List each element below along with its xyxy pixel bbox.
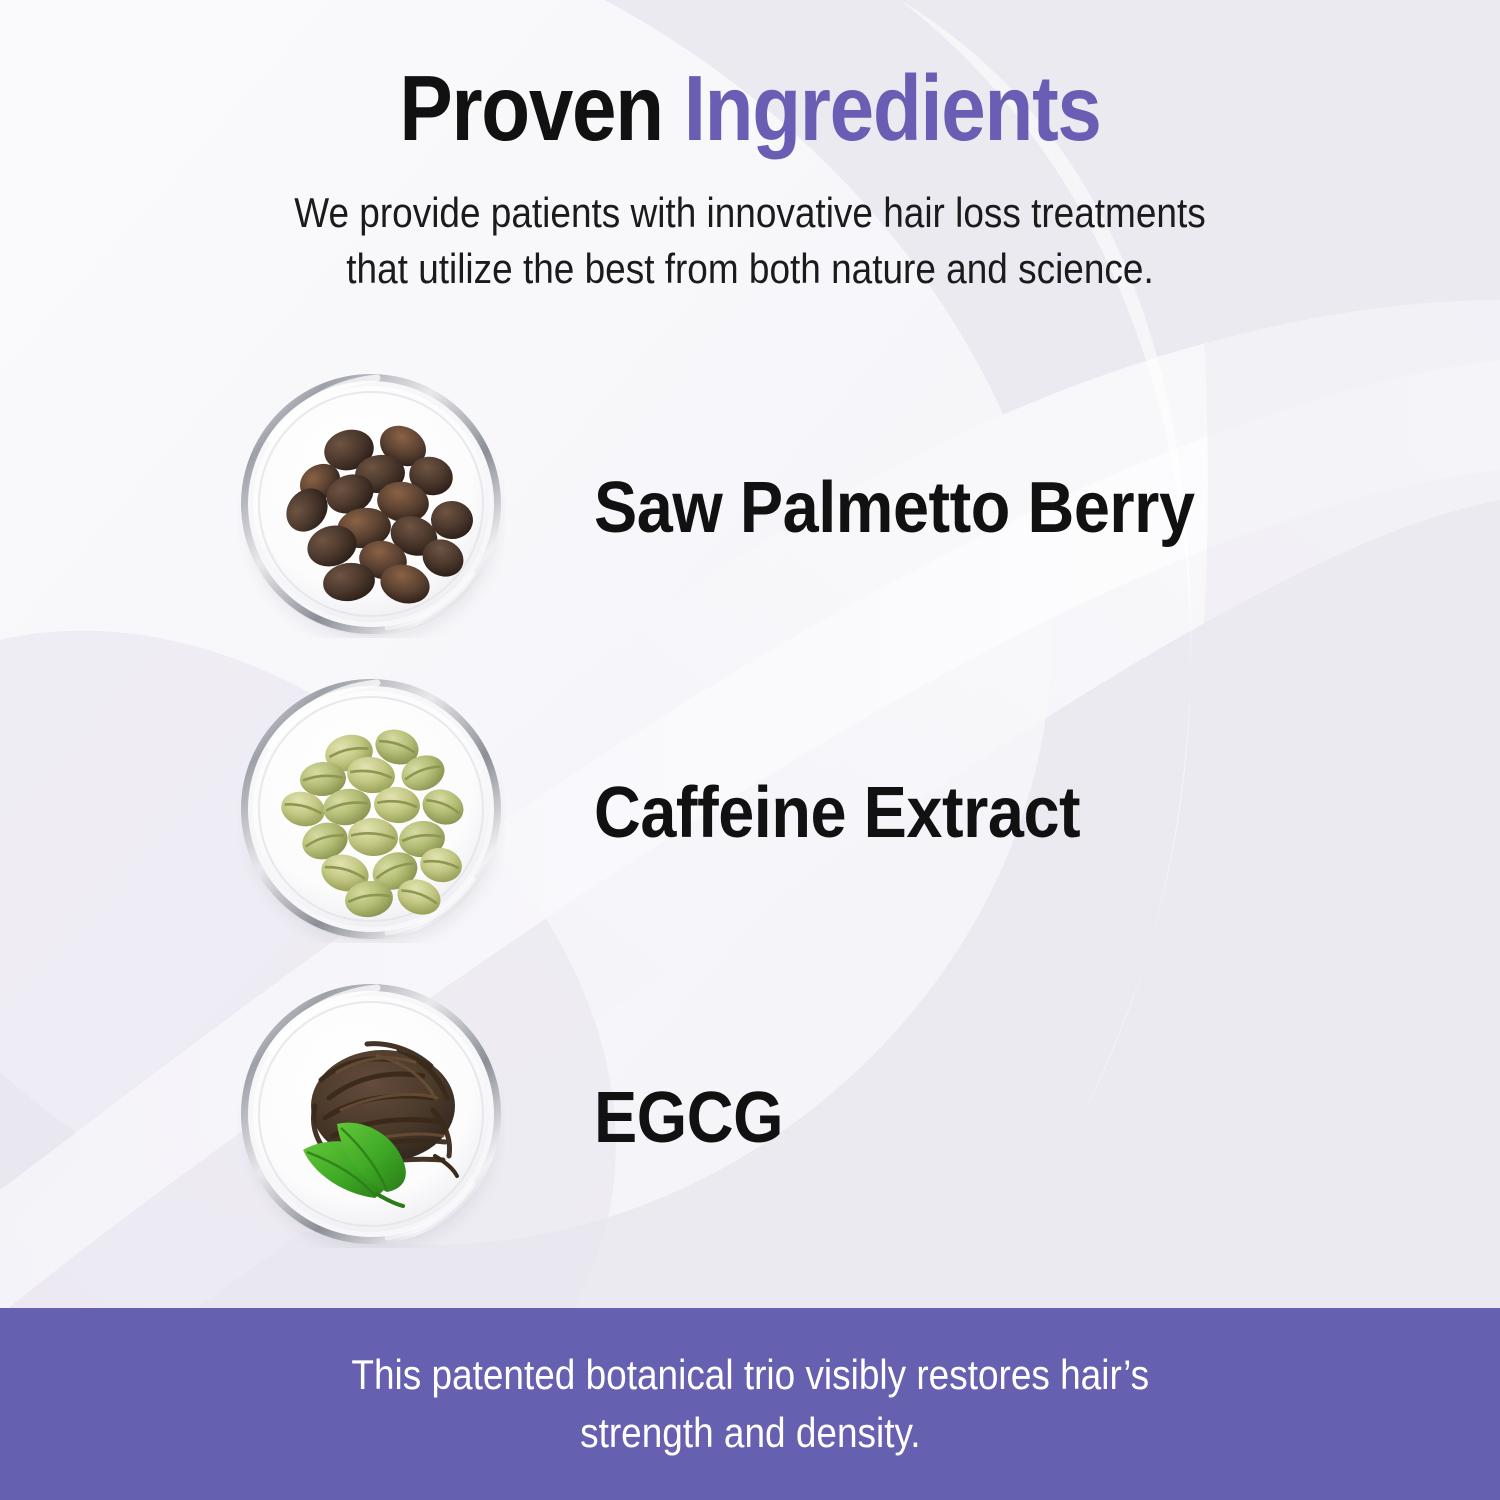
petri-dish-icon <box>237 370 505 638</box>
page-title-accent: Ingredients <box>684 56 1101 160</box>
list-item: EGCG <box>0 965 1500 1270</box>
petri-dish-icon <box>237 980 505 1248</box>
ingredient-label: Saw Palmetto Berry <box>594 467 1195 549</box>
ingredient-label: Caffeine Extract <box>594 772 1080 854</box>
ingredient-image-caffeine <box>222 663 522 963</box>
header: Proven Ingredients We provide patients w… <box>0 0 1500 297</box>
page-title-primary: Proven <box>399 56 683 160</box>
bottom-banner: This patented botanical trio visibly res… <box>0 1308 1500 1500</box>
ingredient-image-egcg <box>222 968 522 1268</box>
ingredient-list: Saw Palmetto Berry <box>0 355 1500 1270</box>
ingredient-label: EGCG <box>594 1077 783 1159</box>
list-item: Caffeine Extract <box>0 660 1500 965</box>
list-item: Saw Palmetto Berry <box>0 355 1500 660</box>
ingredient-image-saw-palmetto <box>222 358 522 658</box>
petri-dish-icon <box>237 675 505 943</box>
page-title: Proven Ingredients <box>105 0 1395 155</box>
ingredients-infographic: Proven Ingredients We provide patients w… <box>0 0 1500 1500</box>
page-subtitle: We provide patients with innovative hair… <box>90 155 1410 297</box>
bottom-banner-text: This patented botanical trio visibly res… <box>351 1346 1149 1462</box>
